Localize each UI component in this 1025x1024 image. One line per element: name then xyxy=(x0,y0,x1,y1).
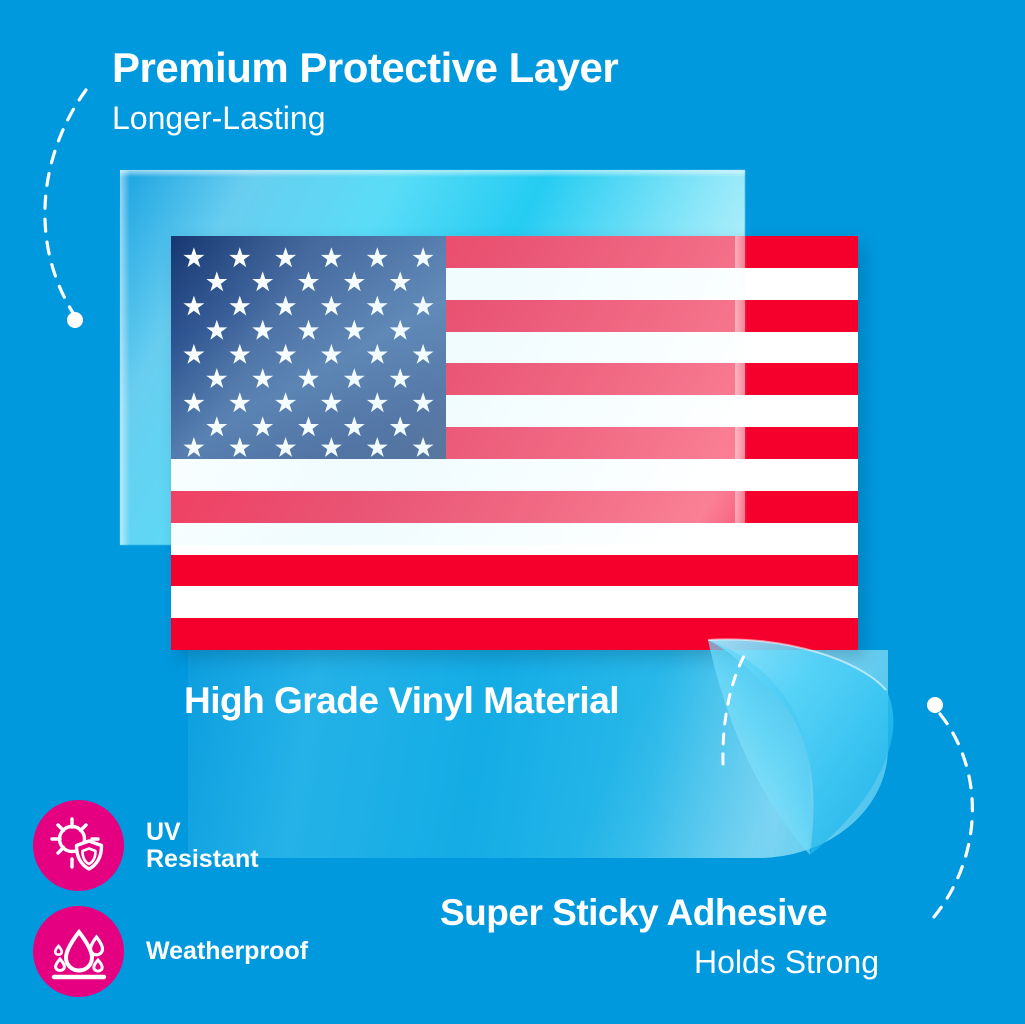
feature-badge-uv-resistant: UV Resistant xyxy=(33,800,259,891)
connector-dot-left xyxy=(67,312,83,328)
feature-label-uv-resistant: UV Resistant xyxy=(146,819,259,873)
callout-title-vinyl-material: High Grade Vinyl Material xyxy=(184,680,619,722)
feature-label-weatherproof: Weatherproof xyxy=(146,938,308,965)
callout-subtitle-longer-lasting: Longer-Lasting xyxy=(112,100,325,137)
vinyl-sheet-top-top-edge xyxy=(120,170,745,177)
peeling-corner xyxy=(690,630,940,880)
badge-circle-weatherproof xyxy=(33,906,124,997)
feature-badge-weatherproof: Weatherproof xyxy=(33,906,308,997)
united-states-flag xyxy=(171,236,858,650)
vinyl-sheet-top-left-edge xyxy=(120,170,130,545)
flag-canton xyxy=(171,236,446,459)
callout-subtitle-holds-strong: Holds Strong xyxy=(694,944,879,981)
flag-stripe xyxy=(171,491,858,523)
flag-stripe xyxy=(171,459,858,491)
flag-stripe xyxy=(171,555,858,587)
badge-circle-uv xyxy=(33,800,124,891)
callout-title-sticky-adhesive: Super Sticky Adhesive xyxy=(440,892,827,934)
flag-stars xyxy=(171,236,446,459)
callout-title-premium: Premium Protective Layer xyxy=(112,44,618,92)
flag-stripe xyxy=(171,523,858,555)
water-droplet-icon xyxy=(48,921,110,983)
sun-shield-icon xyxy=(48,815,110,877)
flag-stripe xyxy=(171,586,858,618)
product-infographic: Premium Protective Layer Longer-Lasting … xyxy=(0,0,1025,1024)
